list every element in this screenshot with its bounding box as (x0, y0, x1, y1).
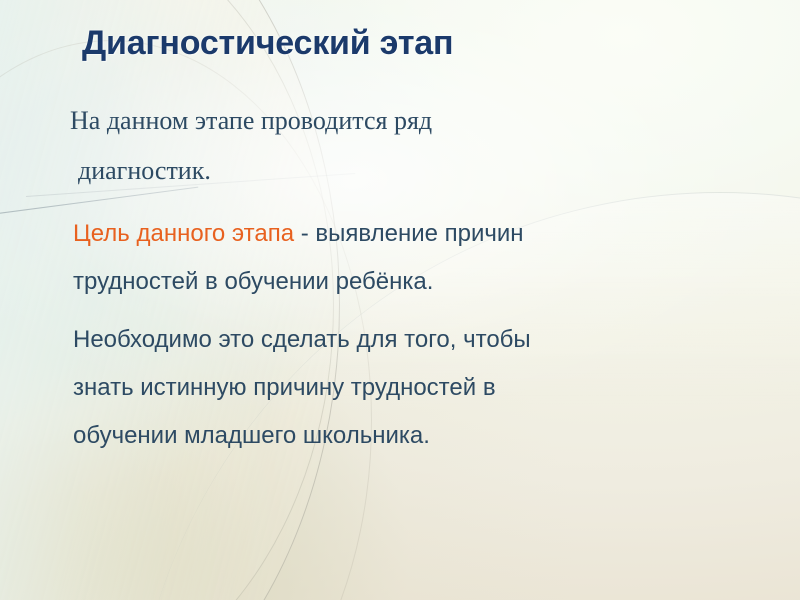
paragraph-reason-line-1: Необходимо это сделать для того, чтобы (73, 316, 752, 364)
slide-canvas: Диагностический этап На данном этапе про… (0, 0, 800, 600)
paragraph-intro-line-2: диагностик. (70, 146, 752, 196)
paragraph-goal-line-2: трудностей в обучении ребёнка. (73, 258, 752, 306)
goal-accent-phrase: Цель данного этапа (73, 220, 294, 247)
paragraph-reason-line-3: обучении младшего школьника. (73, 412, 752, 460)
paragraph-reason-line-2: знать истинную причину трудностей в (73, 364, 752, 412)
slide-body: На данном этапе проводится ряд диагности… (62, 96, 752, 460)
paragraph-goal-line-1: Цель данного этапа - выявление причин (73, 210, 752, 258)
slide-content: Диагностический этап На данном этапе про… (0, 0, 800, 600)
paragraph-goal-line-1-rest: - выявление причин (294, 220, 523, 247)
slide-title: Диагностический этап (82, 24, 742, 63)
paragraph-reason: Необходимо это сделать для того, чтобы з… (62, 316, 752, 460)
paragraph-intro: На данном этапе проводится ряд диагности… (62, 96, 752, 196)
paragraph-goal: Цель данного этапа - выявление причин тр… (62, 210, 752, 306)
paragraph-intro-line-1: На данном этапе проводится ряд (70, 96, 752, 146)
